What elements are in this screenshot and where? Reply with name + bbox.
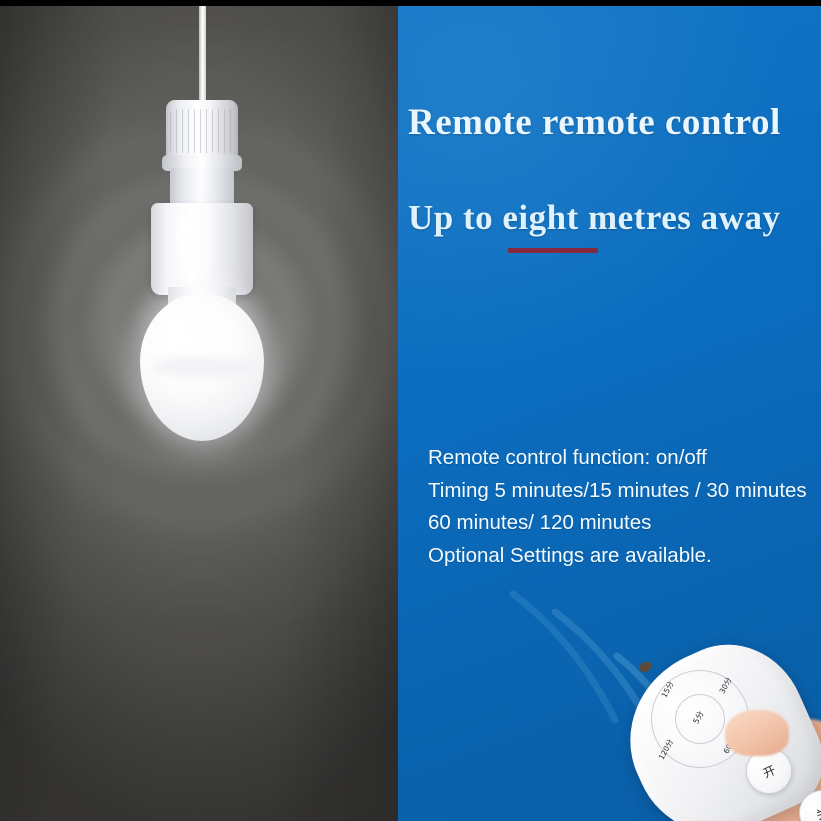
headline-underline: [508, 248, 598, 253]
feature-item: Timing 5 minutes/15 minutes / 30 minutes: [428, 475, 821, 508]
product-photo-panel: [0, 5, 398, 821]
pressing-finger: [725, 710, 789, 756]
socket-base-cylinder: [151, 203, 253, 295]
feature-item: Remote control function: on/off: [428, 442, 821, 475]
feature-item: 60 minutes/ 120 minutes: [428, 507, 821, 540]
remote-and-hand: 15分 30分 60分 120分 5分 开 关: [613, 640, 821, 821]
headline-secondary: Up to eight metres away: [408, 198, 821, 238]
headline-primary: Remote remote control: [408, 101, 821, 144]
ir-emitter-tip: [638, 660, 654, 674]
top-black-bar: [0, 0, 821, 6]
marketing-text-panel: Remote remote control Up to eight metres…: [398, 5, 821, 821]
socket-cap-ribs: [170, 109, 234, 153]
advertisement-canvas: Remote remote control Up to eight metres…: [0, 0, 821, 821]
socket-base-highlight: [176, 215, 189, 283]
bulb-diffuser-band: [152, 357, 252, 377]
feature-list: Remote control function: on/off Timing 5…: [428, 442, 821, 572]
hanging-cord: [199, 5, 206, 110]
feature-item: Optional Settings are available.: [428, 540, 821, 573]
